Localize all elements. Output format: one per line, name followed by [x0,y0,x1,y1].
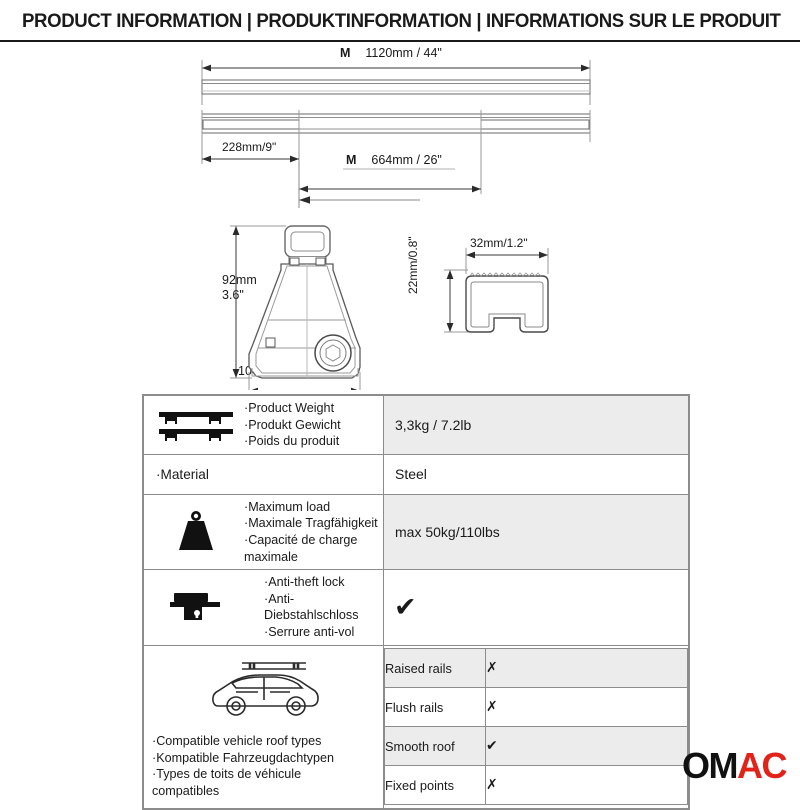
lock-value-cell: ✔ [384,570,689,645]
label-line: ·Product Weight [244,400,381,417]
label-line: ·Kompatible Fahrzeugdachtypen [152,750,334,767]
compat-row-raised-rails: Raised rails ✗ [385,649,688,688]
compat-name-flush-rails: Flush rails [385,688,486,727]
car-with-roof-rack-icon [202,656,326,727]
weight-value-cell: 3,3kg / 7.2lb [384,396,689,455]
compatibility-label-cell: ·Compatible vehicle roof types ·Kompatib… [144,645,384,809]
maxload-value: max 50kg/110lbs [384,524,688,541]
lock-checkmark: ✔ [384,594,688,621]
compat-mark-flush-rails: ✗ [486,688,688,727]
header-bar: PRODUCT INFORMATION | PRODUKTINFORMATION… [0,0,800,42]
compatibility-options-cell: Raised rails ✗ Flush rails ✗ [384,645,689,809]
lock-labels: ·Anti-theft lock ·Anti-Diebstahlschloss … [242,574,381,640]
omac-logo: OMAC [682,748,786,784]
compat-mark-raised-rails: ✗ [486,649,688,688]
compat-mark-fixed-points: ✗ [486,766,688,805]
drawing-svg [0,42,800,390]
table-row-compatibility: ·Compatible vehicle roof types ·Kompatib… [144,645,689,809]
material-label-cell: ·Material [144,454,384,494]
label-line: ·Anti-Diebstahlschloss [264,591,381,624]
label-line: ·Compatible vehicle roof types [152,733,334,750]
compat-name-smooth-roof: Smooth roof [385,727,486,766]
compat-mark-smooth-roof: ✔ [486,727,688,766]
label-line: ·Produkt Gewicht [244,417,381,434]
weight-value: 3,3kg / 7.2lb [384,417,688,434]
label-line: ·Maximum load [244,499,381,516]
cross-icon: ✗ [486,777,498,793]
weight-labels: ·Product Weight ·Produkt Gewicht ·Poids … [242,400,381,450]
roof-rack-bars-icon [150,405,242,445]
compat-name-raised-rails: Raised rails [385,649,486,688]
check-icon: ✔ [486,738,498,754]
material-label: ·Material [144,455,383,494]
logo-text-dark: OM [682,745,737,786]
table-row: ·Anti-theft lock ·Anti-Diebstahlschloss … [144,570,689,645]
label-line: ·Types de toits de véhicule [152,766,334,783]
maxload-value-cell: max 50kg/110lbs [384,494,689,569]
label-line: ·Serrure anti-vol [264,624,381,641]
label-line: ·Capacité de charge maximale [244,532,381,565]
label-line: compatibles [152,783,334,800]
table-row: ·Product Weight ·Produkt Gewicht ·Poids … [144,396,689,455]
cross-icon: ✗ [486,699,498,715]
page-title: PRODUCT INFORMATION | PRODUKTINFORMATION… [22,10,781,33]
table-row: ·Material Steel [144,454,689,494]
technical-drawing-area: M 1120mm / 44" 228mm/9" M 664mm / 26" 92… [0,42,800,390]
weight-label-cell: ·Product Weight ·Produkt Gewicht ·Poids … [144,396,384,455]
compat-row-smooth-roof: Smooth roof ✔ [385,727,688,766]
specifications-table: ·Product Weight ·Produkt Gewicht ·Poids … [142,394,690,810]
label-line: ·Poids du produit [244,433,381,450]
maxload-label-cell: ·Maximum load ·Maximale Tragfähigkeit ·C… [144,494,384,569]
compat-name-fixed-points: Fixed points [385,766,486,805]
compat-row-fixed-points: Fixed points ✗ [385,766,688,805]
cross-icon: ✗ [486,660,498,676]
label-line: ·Anti-theft lock [264,574,381,591]
material-value-cell: Steel [384,454,689,494]
table-row: ·Maximum load ·Maximale Tragfähigkeit ·C… [144,494,689,569]
material-value: Steel [384,466,688,483]
lock-label-cell: ·Anti-theft lock ·Anti-Diebstahlschloss … [144,570,384,645]
label-line: ·Maximale Tragfähigkeit [244,515,381,532]
maxload-labels: ·Maximum load ·Maximale Tragfähigkeit ·C… [242,499,381,565]
compat-row-flush-rails: Flush rails ✗ [385,688,688,727]
compatibility-labels: ·Compatible vehicle roof types ·Kompatib… [148,733,334,801]
logo-text-red: AC [737,745,786,786]
weight-icon [150,510,242,554]
lock-icon [150,589,242,625]
